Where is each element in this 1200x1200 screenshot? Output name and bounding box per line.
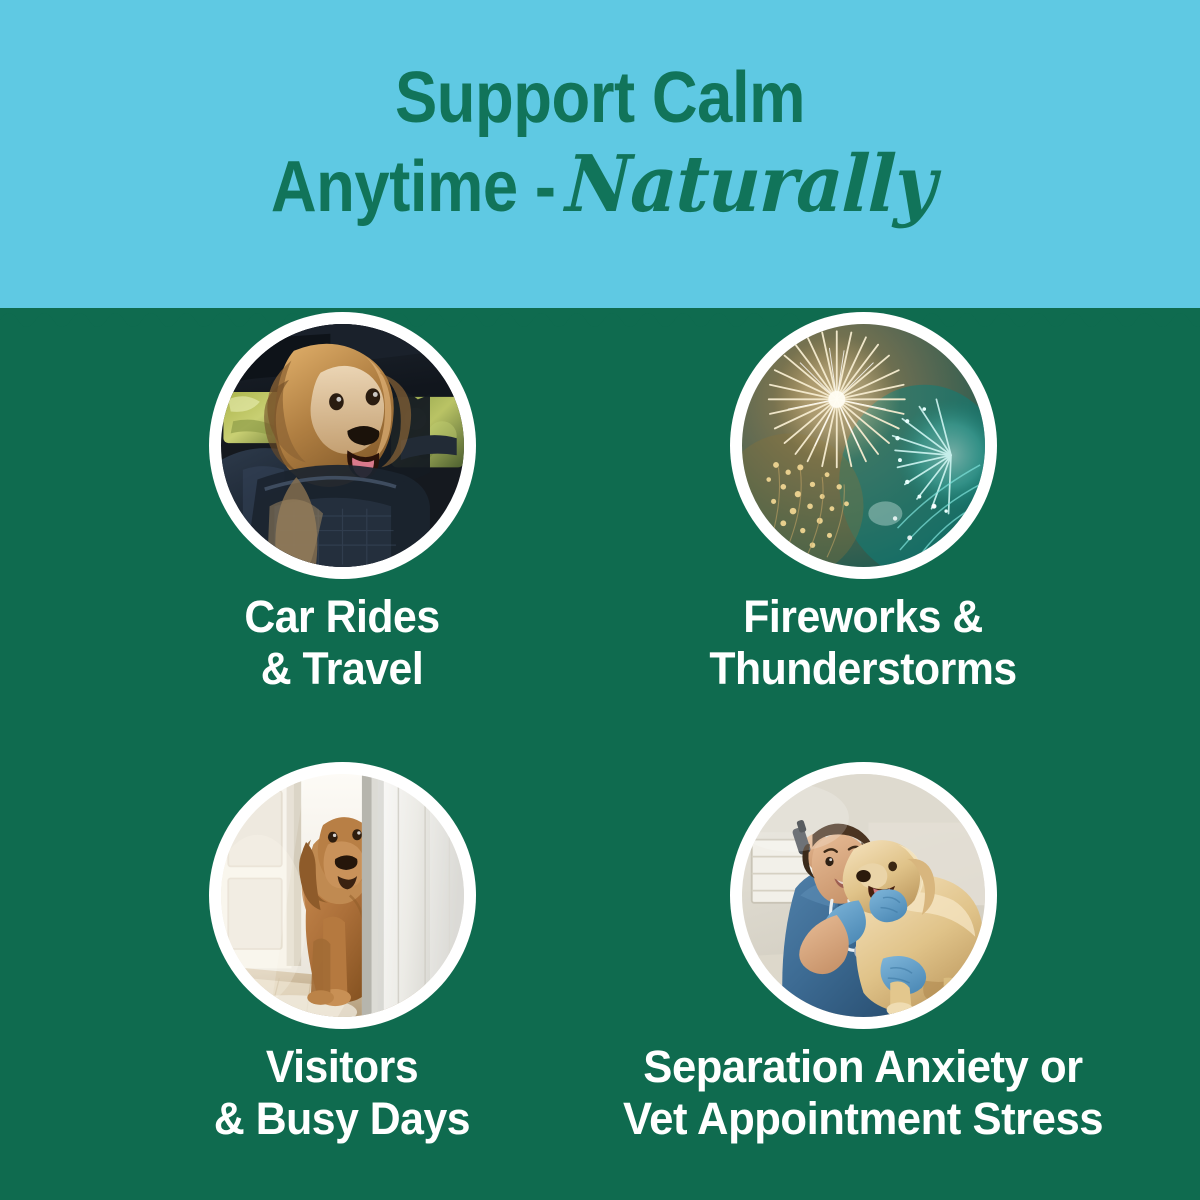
vet-with-dog-photo: [742, 774, 985, 1017]
photo-ring: [730, 312, 997, 579]
photo-ring: [209, 312, 476, 579]
benefit-card-visitors[interactable]: Visitors & Busy Days: [75, 758, 609, 1145]
infographic-canvas: Support Calm Anytime -Naturally: [0, 0, 1200, 1200]
photo-ring: [730, 762, 997, 1029]
benefit-card-vet-stress[interactable]: Separation Anxiety or Vet Appointment St…: [596, 758, 1130, 1145]
photo-ring: [209, 762, 476, 1029]
card-label: Visitors & Busy Days: [75, 1041, 609, 1145]
card-label-line2: & Busy Days: [88, 1093, 595, 1145]
card-label-line1: Separation Anxiety or: [604, 1041, 1122, 1093]
card-label: Fireworks & Thunderstorms: [596, 591, 1130, 695]
benefit-card-car-rides[interactable]: Car Rides & Travel: [75, 308, 609, 695]
card-label-line2: & Travel: [88, 643, 595, 695]
card-label-line2: Vet Appointment Stress: [604, 1093, 1122, 1145]
benefit-card-fireworks[interactable]: Fireworks & Thunderstorms: [596, 308, 1130, 695]
card-label-line1: Car Rides: [88, 591, 595, 643]
benefit-card-grid: Car Rides & Travel: [0, 308, 1200, 1200]
card-label: Separation Anxiety or Vet Appointment St…: [596, 1041, 1130, 1145]
fireworks-photo: [742, 324, 985, 567]
page-title-line2: Anytime -Naturally: [0, 146, 1200, 224]
card-label-line2: Thunderstorms: [609, 643, 1116, 695]
dog-in-car-photo: [221, 324, 464, 567]
card-label-line1: Fireworks &: [609, 591, 1116, 643]
dog-at-door-photo: [221, 774, 464, 1017]
card-label-line1: Visitors: [88, 1041, 595, 1093]
page-title: Support Calm Anytime -Naturally: [0, 62, 1200, 224]
card-label: Car Rides & Travel: [75, 591, 609, 695]
page-title-line2-script: Naturally: [564, 146, 937, 224]
page-title-line2-plain: Anytime -: [271, 151, 556, 223]
page-title-line1: Support Calm: [72, 62, 1128, 134]
